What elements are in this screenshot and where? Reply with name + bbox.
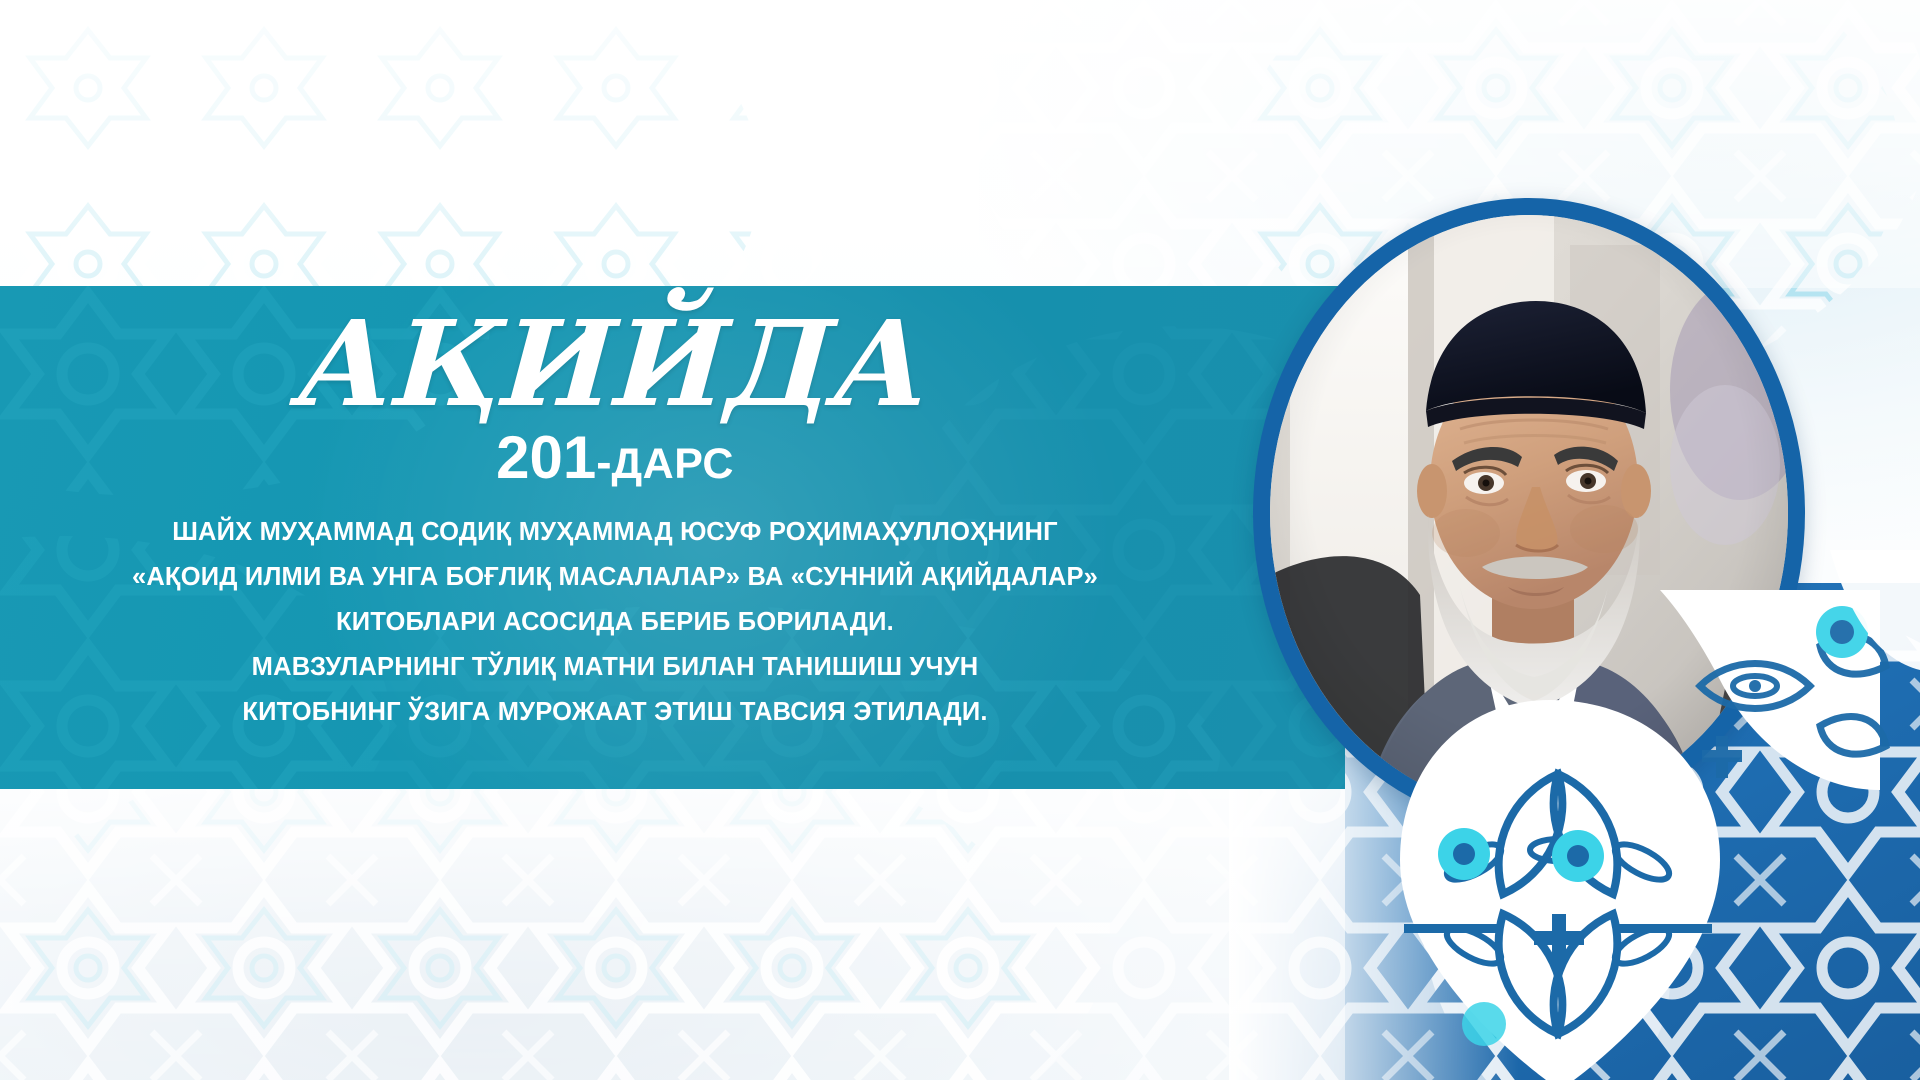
lesson-number: 201 bbox=[496, 428, 596, 488]
description-line: ШАЙХ МУҲАММАД СОДИҚ МУҲАММАД ЮСУФ РОҲИМА… bbox=[172, 510, 1058, 555]
banner-title: АҚИЙДА bbox=[294, 304, 935, 424]
description-line: «АҚОИД ИЛМИ ВА УНГА БОҒЛИҚ МАСАЛАЛАР» ВА… bbox=[132, 555, 1098, 600]
portrait-photo bbox=[1270, 215, 1788, 811]
description-line: МАВЗУЛАРНИНГ ТЎЛИҚ МАТНИ БИЛАН ТАНИШИШ У… bbox=[252, 645, 979, 690]
lesson-number-label: 201 - ДАРС bbox=[496, 428, 734, 488]
lesson-word: ДАРС bbox=[612, 443, 734, 486]
description-line: КИТОБНИНГ ЎЗИГА МУРОЖААТ ЭТИШ ТАВСИЯ ЭТИ… bbox=[242, 690, 987, 735]
lesson-number-dash: - bbox=[596, 439, 611, 485]
description-block: ШАЙХ МУҲАММАД СОДИҚ МУҲАММАД ЮСУФ РОҲИМА… bbox=[0, 510, 1230, 735]
description-line: КИТОБЛАРИ АСОСИДА БЕРИБ БОРИЛАДИ. bbox=[336, 600, 894, 645]
banner-copy: АҚИЙДА 201 - ДАРС ШАЙХ МУҲАММАД СОДИҚ МУ… bbox=[0, 286, 1230, 789]
portrait-container bbox=[1253, 198, 1805, 828]
banner-canvas: АҚИЙДА 201 - ДАРС ШАЙХ МУҲАММАД СОДИҚ МУ… bbox=[0, 0, 1920, 1080]
